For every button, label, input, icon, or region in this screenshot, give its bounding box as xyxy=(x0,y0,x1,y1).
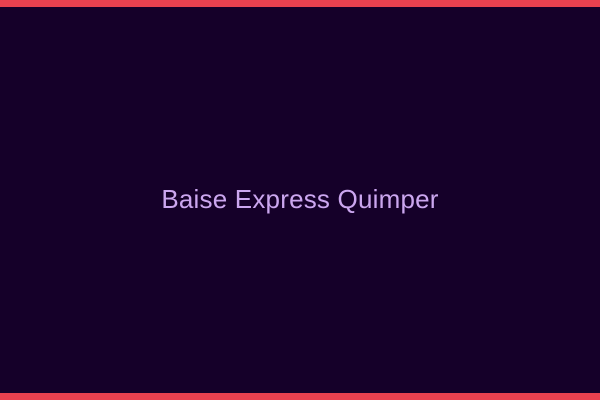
banner-title: Baise Express Quimper xyxy=(24,184,576,215)
top-accent-bar xyxy=(0,0,600,7)
placeholder-banner: Baise Express Quimper xyxy=(0,0,600,400)
bottom-accent-bar xyxy=(0,393,600,400)
banner-content: Baise Express Quimper xyxy=(0,184,600,215)
